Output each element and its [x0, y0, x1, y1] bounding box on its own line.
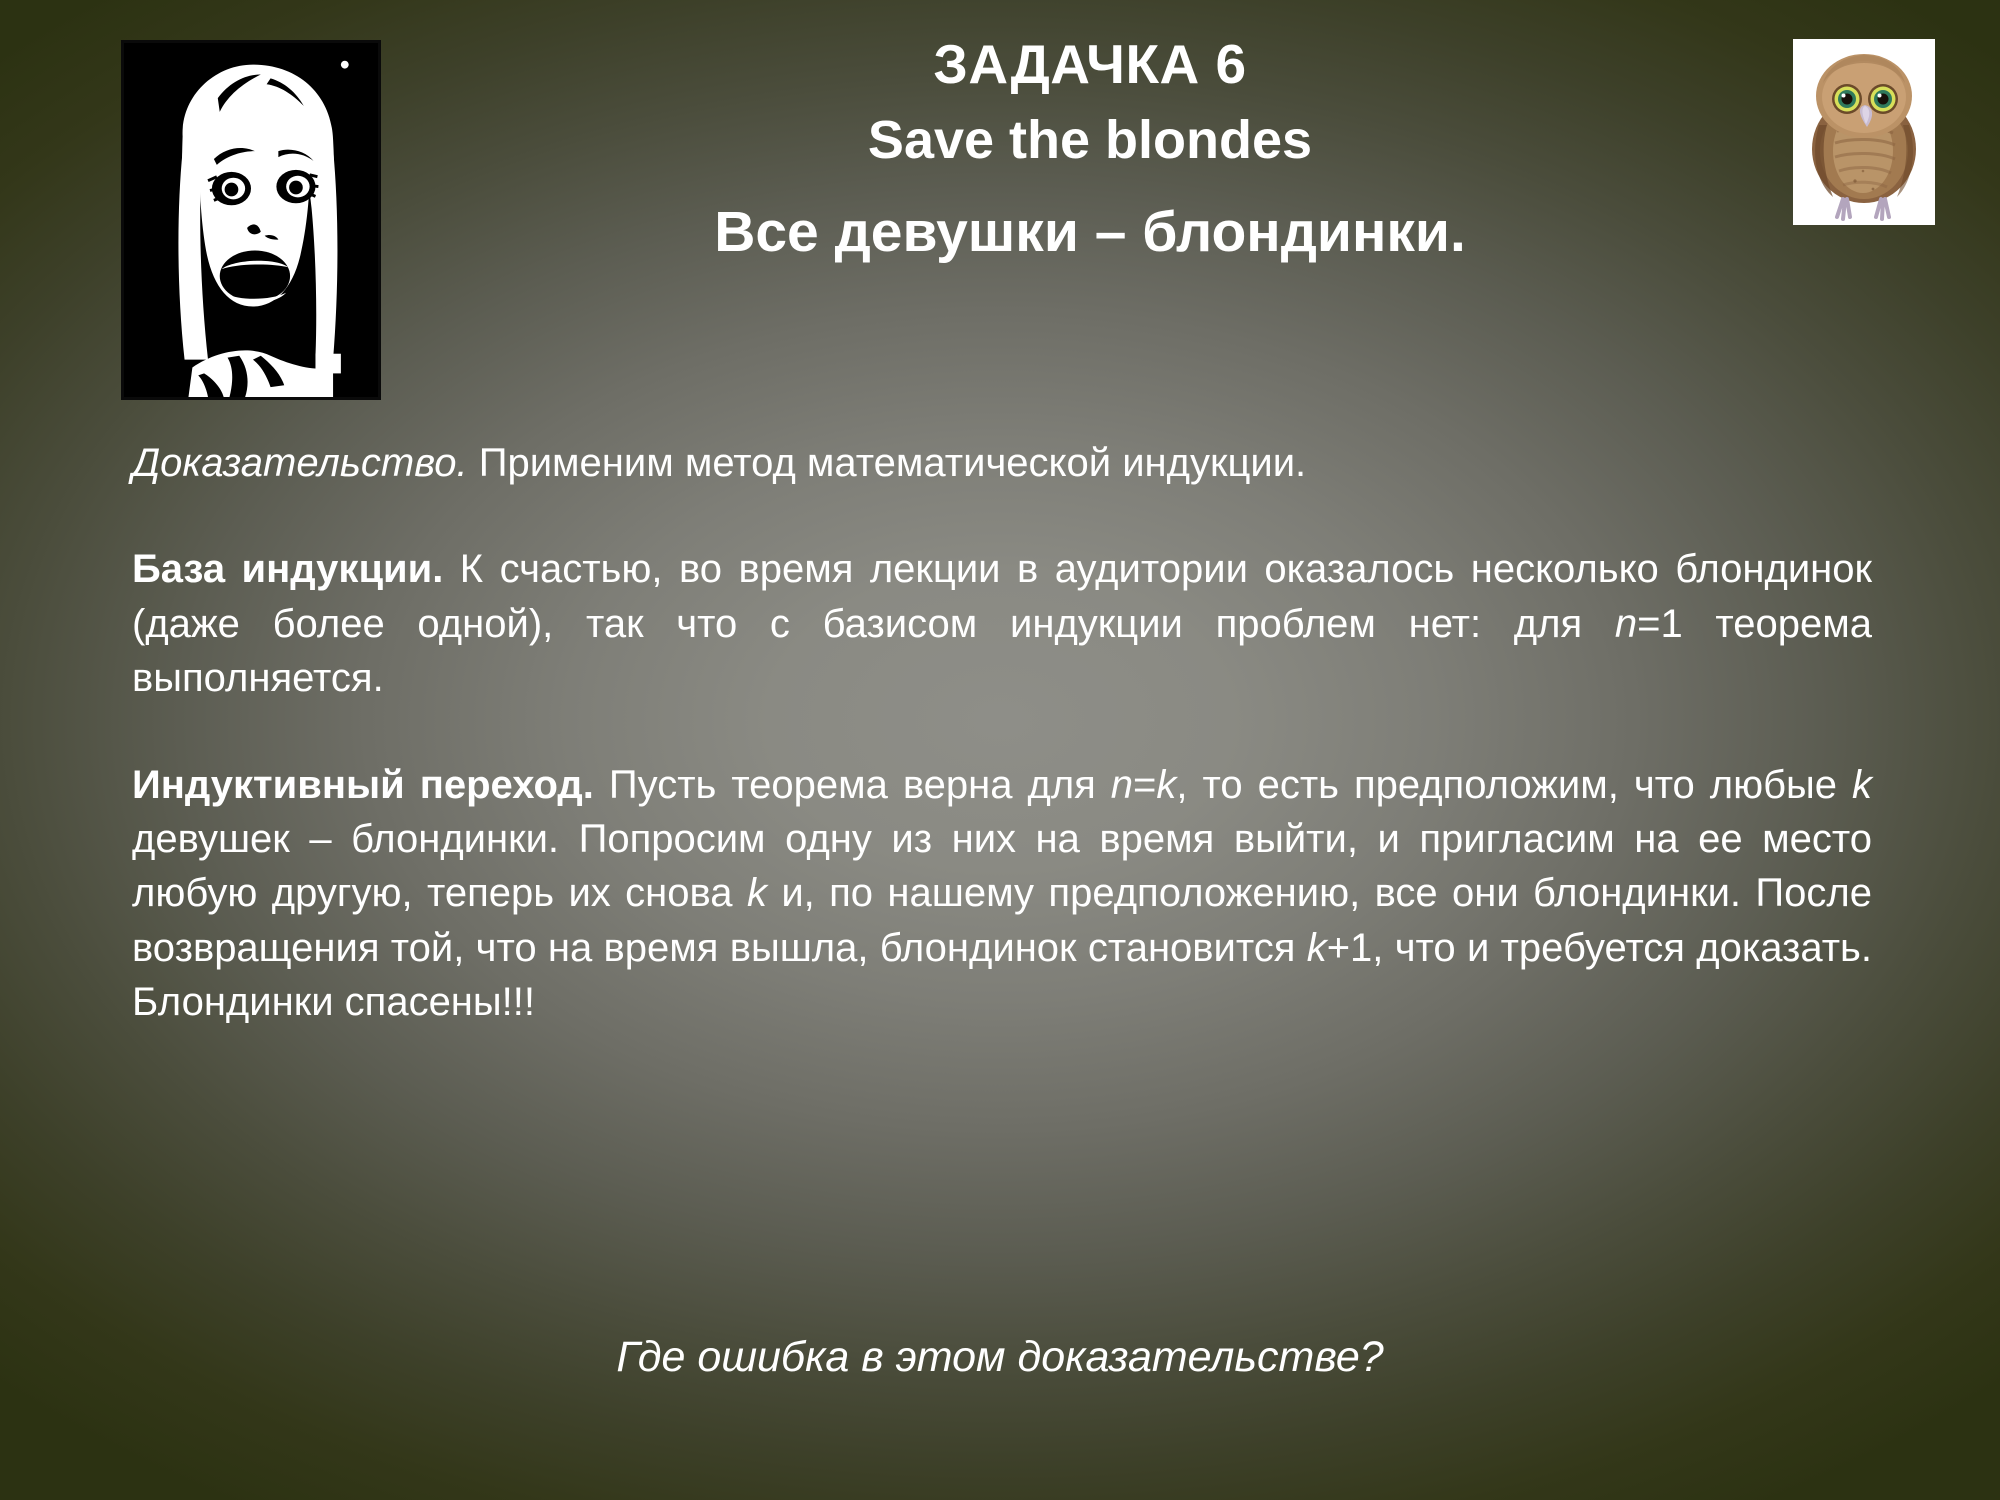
proof-intro-text: Применим метод математической индукции. — [468, 441, 1307, 485]
variable-n-step: n — [1111, 763, 1133, 807]
watercolor-owl-image — [1793, 39, 1935, 225]
surprised-blonde-woman-image — [121, 40, 381, 400]
subtitle-english: Save the blondes — [400, 97, 1780, 183]
theorem-statement: Все девушки – блондинки. — [400, 183, 1780, 283]
equals-sign: = — [1133, 763, 1156, 807]
paragraph-induction-step: Индуктивный переход. Пусть теорема верна… — [132, 758, 1872, 1030]
closing-question: Где ошибка в этом доказательстве? — [200, 1330, 1800, 1386]
variable-k-step-3: k — [747, 871, 767, 915]
variable-k-step-1: k — [1156, 763, 1176, 807]
variable-n-base: n — [1615, 602, 1637, 646]
induction-base-label: База индукции. — [132, 547, 443, 591]
paragraph-proof-intro: Доказательство. Применим метод математич… — [132, 436, 1872, 490]
induction-step-label: Индуктивный переход. — [132, 763, 594, 807]
induction-step-text-1: Пусть теорема верна для — [594, 763, 1111, 807]
variable-k-step-4: k — [1307, 926, 1327, 970]
page-title: ЗАДАЧКА 6 — [400, 32, 1780, 97]
variable-k-step-2: k — [1852, 763, 1872, 807]
proof-lead-label: Доказательство. — [132, 441, 468, 485]
slide-canvas: ЗАДАЧКА 6 Save the blondes Все девушки –… — [0, 0, 2000, 1500]
proof-body: Доказательство. Применим метод математич… — [132, 436, 1872, 1030]
induction-step-text-2: , то есть предположим, что любые — [1176, 763, 1852, 807]
title-block: ЗАДАЧКА 6 Save the blondes Все девушки –… — [400, 32, 1780, 283]
paragraph-induction-base: База индукции. К счастью, во время лекци… — [132, 542, 1872, 705]
